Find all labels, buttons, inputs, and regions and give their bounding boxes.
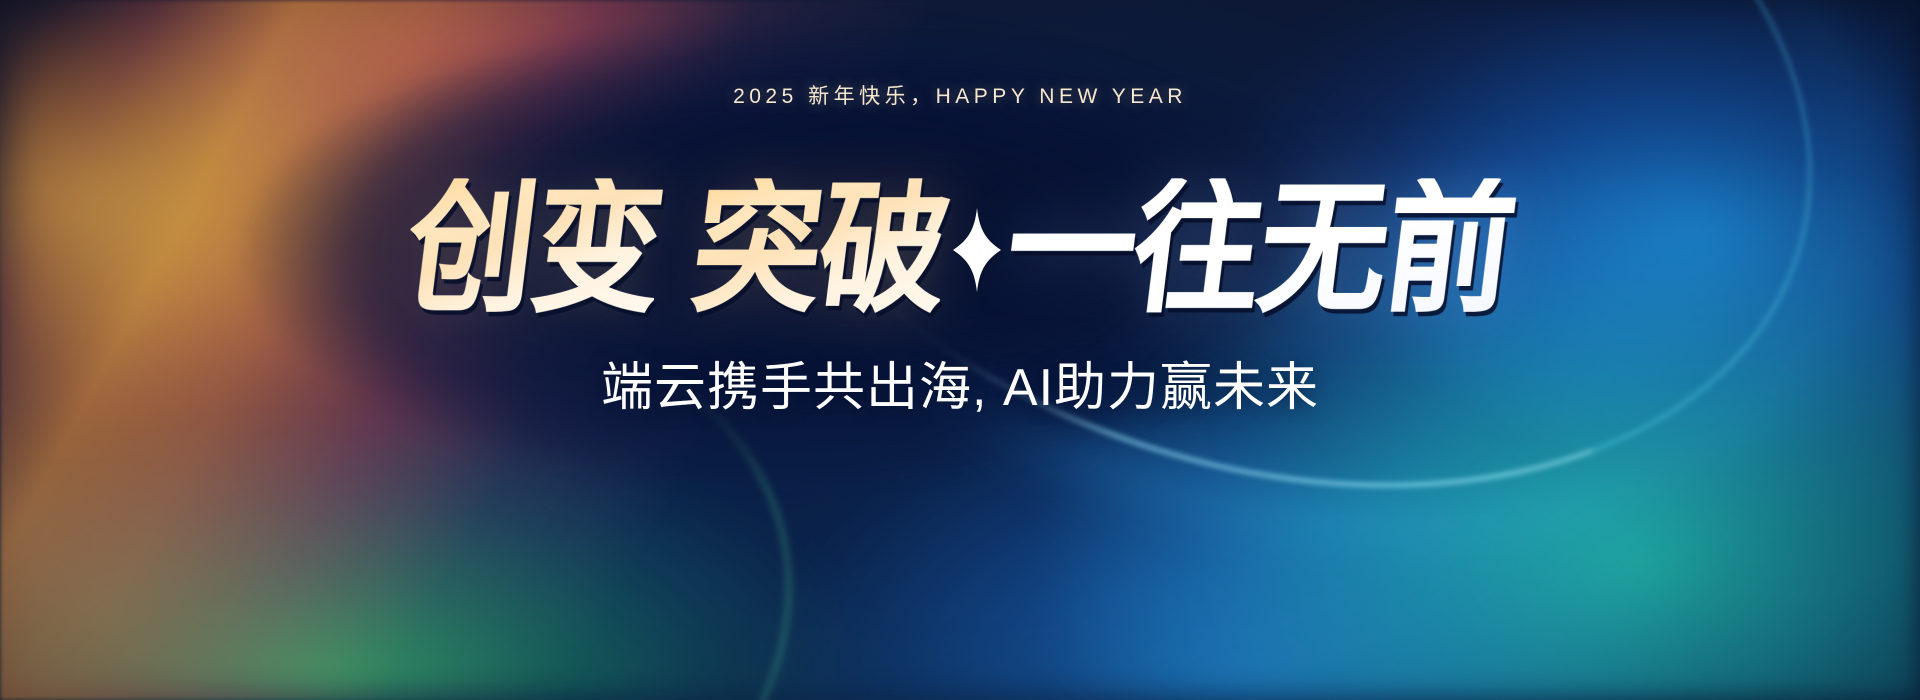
banner-content: 2025 新年快乐，HAPPY NEW YEAR 创变 突破 一往无前 端云携手… — [0, 0, 1920, 700]
headline-segment-tupo: 突破 — [685, 178, 955, 321]
headline-segment-chuangbian: 创变 — [399, 178, 669, 321]
headline: 创变 突破 一往无前 — [0, 180, 1920, 320]
new-year-hero-banner: 2025 新年快乐，HAPPY NEW YEAR 创变 突破 一往无前 端云携手… — [0, 0, 1920, 700]
headline-segment-yiwangwuqian: 一往无前 — [999, 178, 1521, 321]
eyebrow-text: 2025 新年快乐，HAPPY NEW YEAR — [0, 80, 1920, 110]
four-point-star-icon — [946, 186, 1008, 314]
subtitle-text: 端云携手共出海, AI助力赢未来 — [0, 345, 1920, 420]
